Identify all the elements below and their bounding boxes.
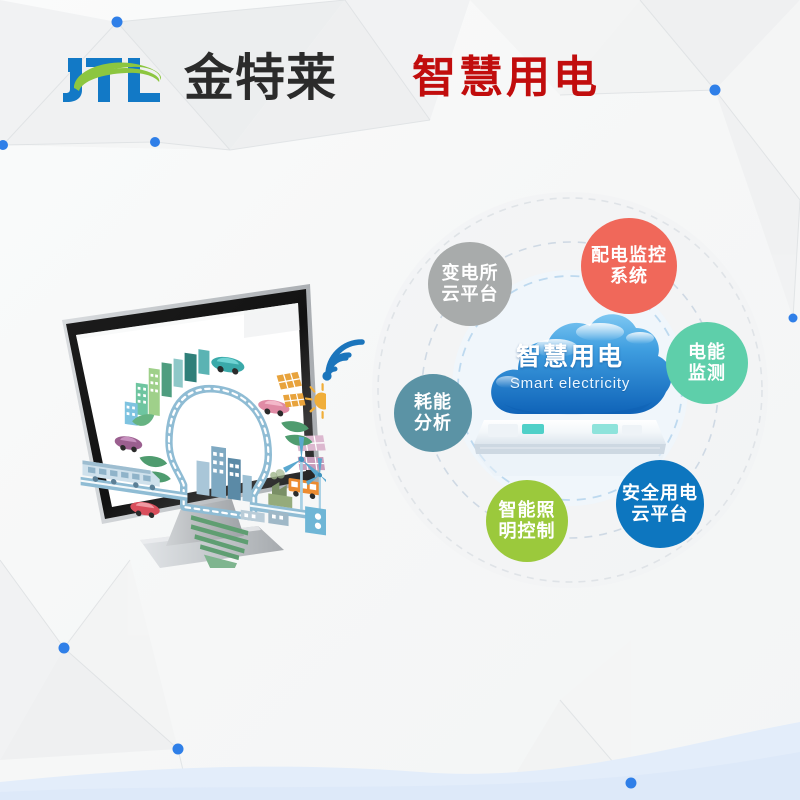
bubble-line-2: 监测 bbox=[688, 363, 726, 384]
bubble-line-1: 耗能 bbox=[414, 392, 452, 413]
desktop-monitor bbox=[48, 278, 326, 568]
bubble-line-2: 云平台 bbox=[442, 284, 499, 305]
bubble-line-2: 分析 bbox=[414, 413, 452, 434]
bubble-energy-monitoring[interactable]: 电能监测 bbox=[666, 322, 748, 404]
bubble-line-1: 智能照 bbox=[499, 500, 556, 521]
poster-title: 智慧用电 bbox=[412, 50, 600, 106]
poster-header: 金特莱 智慧用电 bbox=[0, 0, 800, 140]
brand-logo: 金特莱 bbox=[60, 48, 360, 110]
bubble-line-1: 配电监控 bbox=[591, 245, 667, 266]
cloud-shape bbox=[491, 314, 671, 414]
wifi-signal-icon bbox=[318, 332, 372, 388]
bubble-line-2: 明控制 bbox=[499, 521, 556, 542]
bubble-distribution-monitoring-system[interactable]: 配电监控系统 bbox=[581, 218, 677, 314]
plug-icon bbox=[305, 506, 326, 540]
bubble-line-2: 系统 bbox=[591, 266, 667, 287]
bubble-energy-consumption-analysis[interactable]: 耗能分析 bbox=[394, 374, 472, 452]
poster-canvas: 金特莱 智慧用电 bbox=[0, 0, 800, 800]
bubble-line-1: 变电所 bbox=[442, 263, 499, 284]
brand-name-cn: 金特莱 bbox=[184, 47, 337, 109]
smart-electricity-diagram: 智慧用电 Smart electricity 变电所云平台 配电监控系统 电能监… bbox=[368, 188, 772, 592]
bubble-line-2: 云平台 bbox=[622, 504, 698, 525]
bubble-safe-electricity-cloud-platform[interactable]: 安全用电云平台 bbox=[616, 460, 704, 548]
bubble-intelligent-lighting-control[interactable]: 智能照明控制 bbox=[486, 480, 568, 562]
bubble-substation-cloud-platform[interactable]: 变电所云平台 bbox=[428, 242, 512, 326]
bubble-line-1: 安全用电 bbox=[622, 483, 698, 504]
jtl-logo-mark bbox=[60, 48, 172, 110]
bubble-line-1: 电能 bbox=[688, 342, 726, 363]
